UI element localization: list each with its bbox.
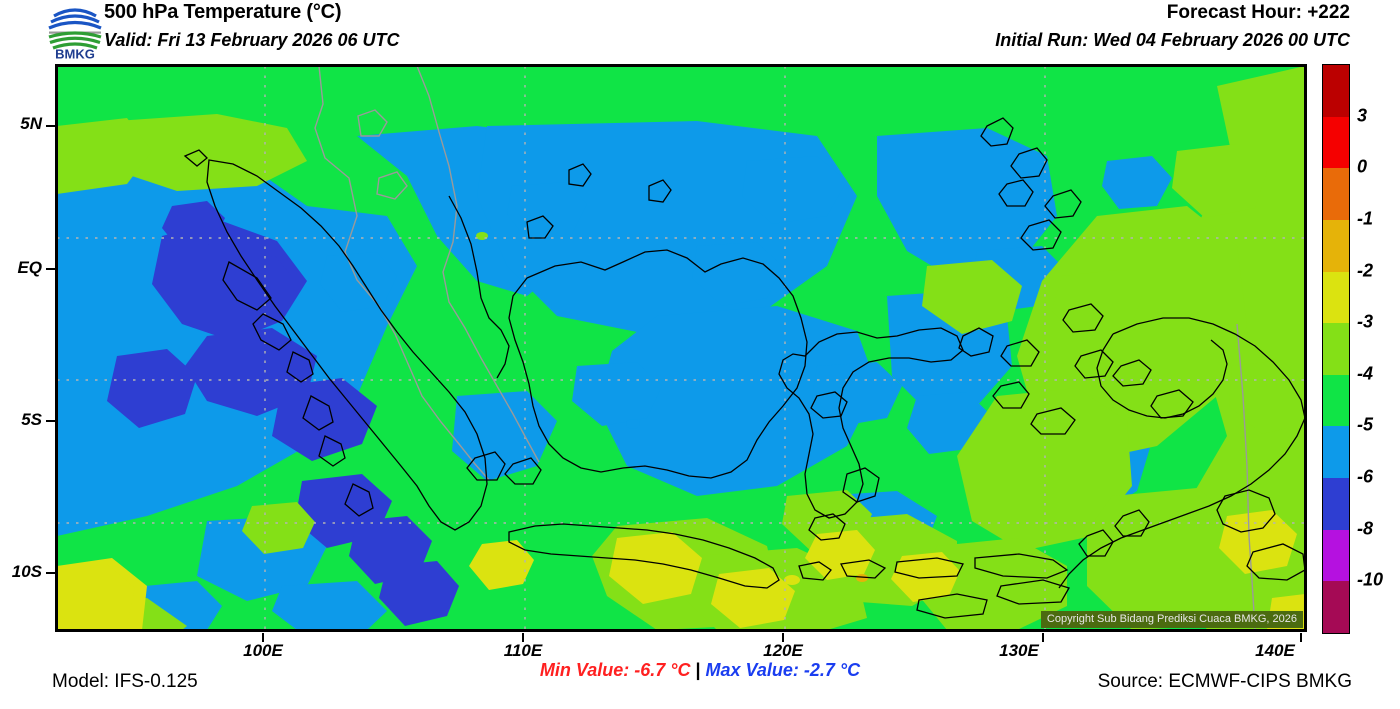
lon-label-140e: 140E xyxy=(1255,641,1295,661)
lon-tick-140e xyxy=(1300,633,1302,642)
lat-tick-eq xyxy=(46,268,55,270)
lon-label-130e: 130E xyxy=(999,641,1039,661)
colorbar-band-4 xyxy=(1323,272,1349,324)
colorbar-band-8 xyxy=(1323,478,1349,530)
valid-time-label: Valid: Fri 13 February 2026 06 UTC xyxy=(104,30,399,51)
colorbar-band-2 xyxy=(1323,168,1349,220)
colorbar-tick--4: -4 xyxy=(1357,363,1373,384)
bmkg-logo-mark: BMKG xyxy=(44,2,106,60)
lon-label-120e: 120E xyxy=(763,641,803,661)
min-max-values: Min Value: -6.7 °C | Max Value: -2.7 °C xyxy=(540,660,860,681)
minmax-separator: | xyxy=(695,660,700,680)
colorbar-tick--1: -1 xyxy=(1357,208,1373,229)
colorbar-band-0 xyxy=(1323,65,1349,117)
colorbar-band-9 xyxy=(1323,530,1349,582)
lat-tick-5s xyxy=(46,420,55,422)
colorbar[interactable] xyxy=(1322,64,1350,634)
lon-label-100e: 100E xyxy=(243,641,283,661)
colorbar-tick-0: 0 xyxy=(1357,157,1367,178)
colorbar-tick-3: 3 xyxy=(1357,105,1367,126)
temperature-field-map[interactable] xyxy=(57,66,1305,630)
colorbar-band-5 xyxy=(1323,323,1349,375)
initial-run-label: Initial Run: Wed 04 February 2026 00 UTC xyxy=(995,30,1350,51)
svg-text:BMKG: BMKG xyxy=(55,47,95,61)
colorbar-tick--5: -5 xyxy=(1357,415,1373,436)
header: BMKG 500 hPa Temperature (°C) Valid: Fri… xyxy=(0,0,1400,60)
lat-label-eq: EQ xyxy=(0,258,42,278)
colorbar-tick--3: -3 xyxy=(1357,312,1373,333)
lat-label-5s: 5S xyxy=(0,410,42,430)
lon-label-110e: 110E xyxy=(504,641,542,661)
min-value-label: Min Value: -6.7 °C xyxy=(540,660,691,680)
colorbar-band-3 xyxy=(1323,220,1349,272)
colorbar-band-10 xyxy=(1323,581,1349,633)
colorbar-band-1 xyxy=(1323,117,1349,169)
forecast-hour-label: Forecast Hour: +222 xyxy=(1167,2,1350,24)
colorbar-tick--10: -10 xyxy=(1357,570,1383,591)
colorbar-band-7 xyxy=(1323,426,1349,478)
colorbar-tick--6: -6 xyxy=(1357,467,1373,488)
colorbar-band-6 xyxy=(1323,375,1349,427)
lat-label-5n: 5N xyxy=(0,114,42,134)
model-label: Model: IFS-0.125 xyxy=(52,671,198,693)
lon-tick-130e xyxy=(1042,633,1044,642)
page-title: 500 hPa Temperature (°C) xyxy=(104,1,341,24)
copyright-watermark: Copyright Sub Bidang Prediksi Cuaca BMKG… xyxy=(1041,611,1303,628)
lat-label-10s: 10S xyxy=(0,562,42,582)
source-label: Source: ECMWF-CIPS BMKG xyxy=(1098,671,1352,693)
lat-tick-10s xyxy=(46,572,55,574)
lat-tick-5n xyxy=(46,125,55,127)
bmkg-logo: BMKG xyxy=(44,2,106,60)
colorbar-tick--8: -8 xyxy=(1357,518,1373,539)
max-value-label: Max Value: -2.7 °C xyxy=(706,660,861,680)
colorbar-tick--2: -2 xyxy=(1357,260,1373,281)
map-panel[interactable]: Copyright Sub Bidang Prediksi Cuaca BMKG… xyxy=(55,64,1307,632)
